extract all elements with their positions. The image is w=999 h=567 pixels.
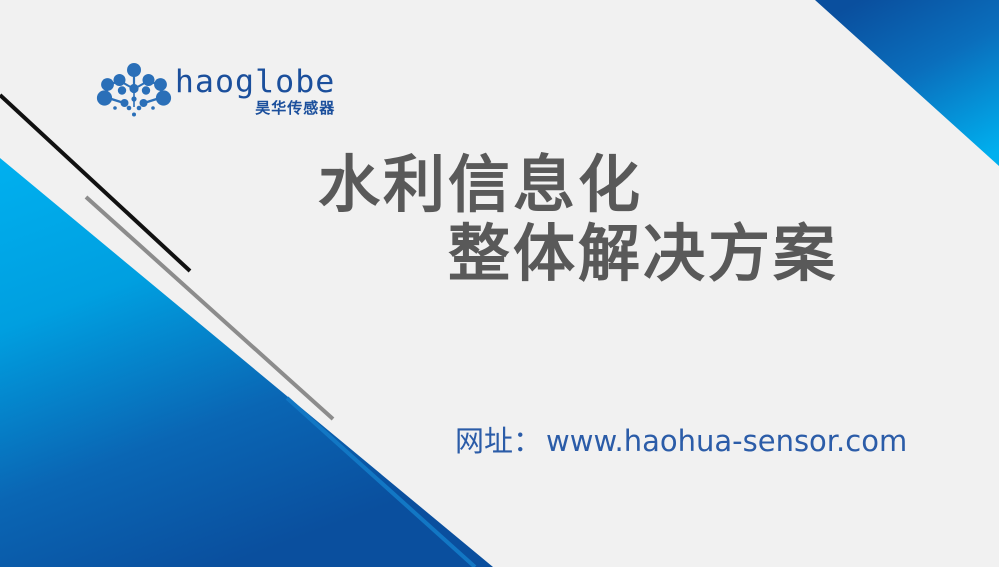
slide-title: 水利信息化 整体解决方案 xyxy=(0,150,999,289)
title-line-2: 整体解决方案 xyxy=(0,219,999,288)
website-url[interactable]: www.haohua-sensor.com xyxy=(546,424,907,458)
title-line-1: 水利信息化 xyxy=(0,150,999,219)
website-line: 网址： www.haohua-sensor.com xyxy=(455,418,907,460)
logo-subtitle: 昊华传感器 xyxy=(255,101,335,116)
logo-text-block: haoglobe 昊华传感器 xyxy=(178,67,335,116)
logo-wordmark: haoglobe xyxy=(175,67,335,98)
company-logo: haoglobe 昊华传感器 xyxy=(96,56,326,126)
blue-diagonal-line xyxy=(287,398,475,567)
presentation-title-slide: haoglobe 昊华传感器 水利信息化 整体解决方案 网址： www.haoh… xyxy=(0,0,999,567)
haoglobe-network-dots-icon xyxy=(96,59,172,123)
website-label: 网址： xyxy=(455,418,542,460)
